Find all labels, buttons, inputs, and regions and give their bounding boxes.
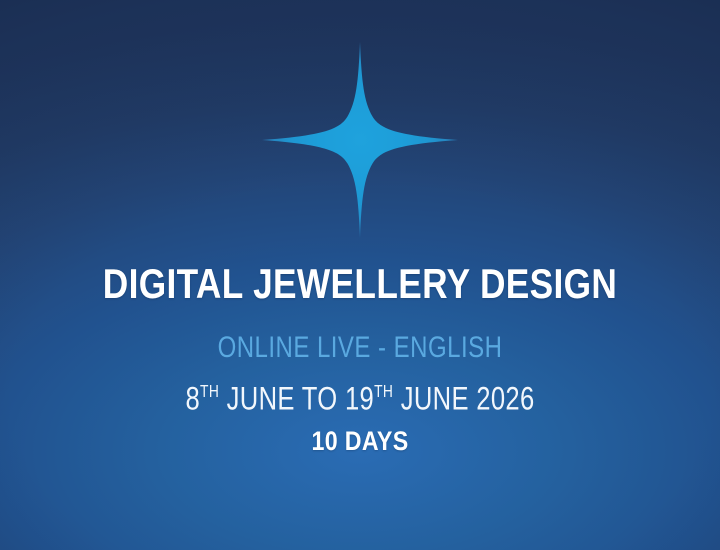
sparkle-icon <box>260 40 460 240</box>
start-month: JUNE <box>219 380 302 416</box>
dates-connector: TO <box>302 380 345 416</box>
end-day: 19 <box>345 380 374 416</box>
course-duration: 10 DAYS <box>50 427 669 456</box>
course-dates: 8TH JUNE TO 19TH JUNE 2026 <box>72 374 648 415</box>
end-month: JUNE <box>393 380 476 416</box>
year: 2026 <box>476 380 534 416</box>
start-ordinal-suffix: TH <box>200 381 219 401</box>
page-title: DIGITAL JEWELLERY DESIGN <box>58 262 663 306</box>
end-ordinal-suffix: TH <box>374 381 393 401</box>
course-promo-poster: DIGITAL JEWELLERY DESIGN ONLINE LIVE - E… <box>0 0 720 550</box>
poster-text-block: DIGITAL JEWELLERY DESIGN ONLINE LIVE - E… <box>0 262 720 456</box>
course-format-subtitle: ONLINE LIVE - ENGLISH <box>72 332 648 364</box>
start-day: 8 <box>185 380 200 416</box>
